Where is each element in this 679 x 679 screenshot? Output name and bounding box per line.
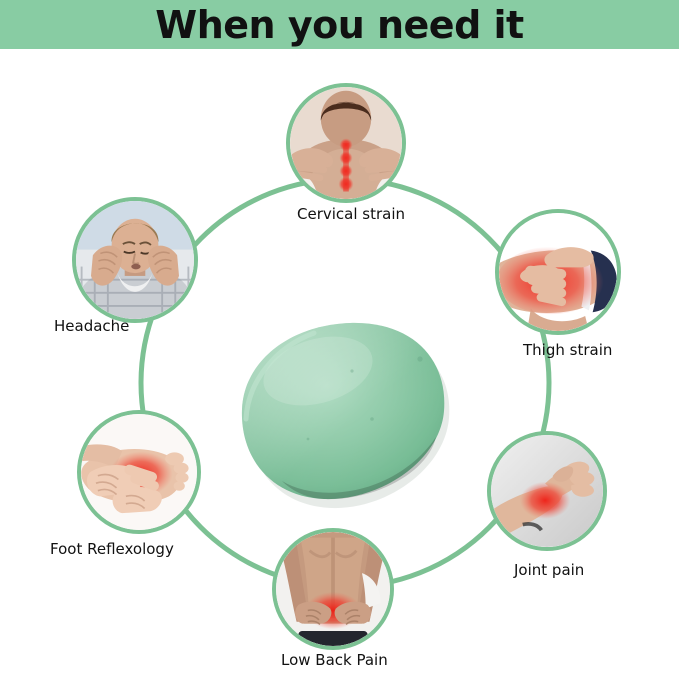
node-thigh-strain[interactable]: [495, 209, 621, 335]
label-low-back-pain: Low Back Pain: [281, 653, 388, 668]
node-foot-reflexology[interactable]: [77, 410, 201, 534]
gua-sha-stone-icon: [222, 315, 467, 510]
label-foot-reflexology: Foot Reflexology: [50, 542, 174, 557]
label-thigh-strain: Thigh strain: [523, 343, 612, 358]
back-pain-photo: [276, 532, 390, 646]
thigh-pain-photo: [499, 213, 617, 331]
infographic-canvas: When you need it: [0, 0, 679, 679]
label-joint-pain: Joint pain: [514, 563, 584, 578]
node-joint-pain[interactable]: [487, 431, 607, 551]
headache-photo: [76, 201, 194, 319]
node-cervical-strain[interactable]: [286, 83, 406, 203]
label-cervical-strain: Cervical strain: [297, 207, 405, 222]
gua-sha-stone: [222, 315, 467, 510]
wrist-pain-photo: [491, 435, 603, 547]
node-headache[interactable]: [72, 197, 198, 323]
node-low-back-pain[interactable]: [272, 528, 394, 650]
page-title: When you need it: [155, 6, 523, 44]
label-headache: Headache: [54, 319, 129, 334]
foot-massage-photo: [81, 414, 197, 530]
pain-marker: [520, 482, 570, 519]
neck-pain-photo: [290, 87, 402, 199]
header-banner: When you need it: [0, 0, 679, 49]
